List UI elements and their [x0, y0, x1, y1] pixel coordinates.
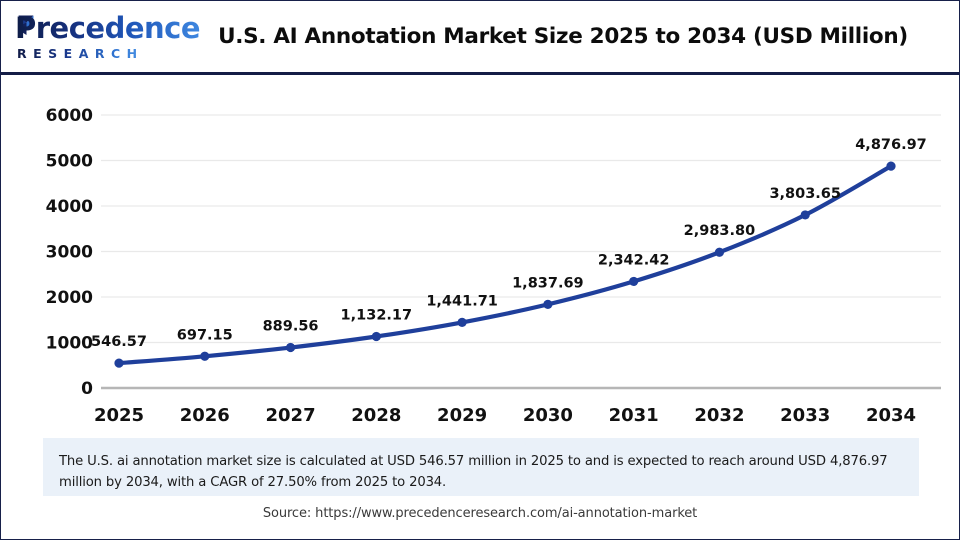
- y-axis-tick: 6000: [46, 106, 93, 126]
- data-point-label: 2,983.80: [684, 223, 756, 239]
- data-point-marker: [372, 332, 381, 341]
- y-axis-tick: 3000: [46, 243, 93, 263]
- summary-note-box: The U.S. ai annotation market size is ca…: [43, 438, 919, 496]
- y-axis-tick: 1000: [46, 334, 93, 354]
- x-axis-tick: 2028: [351, 405, 401, 425]
- x-axis-tick: 2029: [437, 405, 487, 425]
- precedence-research-logo: Precedence RESEARCH: [15, 13, 175, 61]
- data-point-marker: [543, 300, 552, 309]
- gridlines: [101, 115, 941, 388]
- y-axis-tick: 2000: [46, 288, 93, 308]
- page-title: U.S. AI Annotation Market Size 2025 to 2…: [177, 1, 957, 72]
- data-point-label: 697.15: [177, 327, 233, 343]
- data-point-label: 1,837.69: [512, 275, 584, 291]
- line-chart: 0100020003000400050006000 20252026202720…: [1, 75, 959, 425]
- data-point-marker: [715, 248, 724, 257]
- data-point-marker: [114, 359, 123, 368]
- x-axis-tick: 2033: [780, 405, 830, 425]
- x-axis-tick: 2030: [523, 405, 573, 425]
- x-axis-tick: 2027: [266, 405, 316, 425]
- data-point-label: 1,441.71: [426, 293, 498, 309]
- y-axis-tick: 5000: [46, 152, 93, 172]
- data-point-labels: 546.57697.15889.561,132.171,441.711,837.…: [91, 137, 927, 350]
- y-axis-tick: 4000: [46, 197, 93, 217]
- source-attribution: Source: https://www.precedenceresearch.c…: [1, 506, 959, 521]
- data-point-marker: [629, 277, 638, 286]
- logo-wordmark: Precedence: [15, 13, 200, 43]
- chart-infographic: Precedence RESEARCH U.S. AI Annotation M…: [0, 0, 960, 540]
- x-axis-tick: 2034: [866, 405, 916, 425]
- data-point-label: 2,342.42: [598, 252, 670, 268]
- header: Precedence RESEARCH U.S. AI Annotation M…: [1, 1, 959, 75]
- x-axis-tick: 2026: [180, 405, 230, 425]
- x-axis-tick-labels: 2025202620272028202920302031203220332034: [94, 405, 916, 425]
- chart-plot-area: 0100020003000400050006000 20252026202720…: [1, 75, 959, 425]
- x-axis-tick: 2031: [609, 405, 659, 425]
- x-axis-tick: 2032: [694, 405, 744, 425]
- y-axis-tick: 0: [81, 379, 93, 399]
- data-point-label: 546.57: [91, 334, 147, 350]
- data-point-marker: [801, 210, 810, 219]
- data-point-marker: [458, 318, 467, 327]
- data-point-label: 1,132.17: [341, 307, 413, 323]
- data-point-label: 889.56: [263, 319, 319, 335]
- data-point-marker: [286, 343, 295, 352]
- data-point-label: 3,803.65: [769, 186, 841, 202]
- data-point-marker: [200, 352, 209, 361]
- data-point-marker: [886, 161, 895, 170]
- summary-note-text: The U.S. ai annotation market size is ca…: [59, 451, 903, 493]
- x-axis-tick: 2025: [94, 405, 144, 425]
- data-point-label: 4,876.97: [855, 137, 927, 153]
- logo-subtitle: RESEARCH: [17, 46, 144, 61]
- y-axis-tick-labels: 0100020003000400050006000: [46, 106, 93, 399]
